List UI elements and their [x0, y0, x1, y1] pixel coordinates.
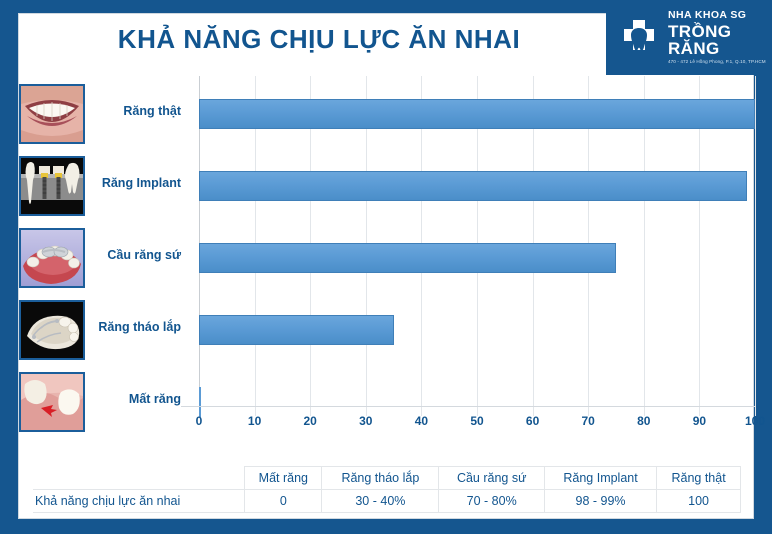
infographic-frame: KHẢ NĂNG CHỊU LỰC ĂN NHAI NHA KHOA SG TR… — [0, 0, 772, 534]
table-row: Khả năng chịu lực ăn nhai 0 30 - 40% 70 … — [33, 490, 741, 513]
category-label-4: Mất răng — [89, 392, 181, 406]
table-row-label: Khả năng chịu lực ăn nhai — [33, 490, 245, 513]
natural-teeth-smile-photo — [19, 84, 85, 144]
table-value-mat-rang: 0 — [245, 490, 322, 513]
page-title: KHẢ NĂNG CHỊU LỰC ĂN NHAI — [19, 24, 619, 55]
brand-text: NHA KHOA SG TRỒNG RĂNG 470 - 472 Lê Hồng… — [668, 10, 772, 64]
category-label-1: Răng Implant — [89, 176, 181, 190]
dental-bridge-model-photo — [19, 228, 85, 288]
table-header-row: Mất răng Răng tháo lắp Cầu răng sứ Răng … — [33, 467, 741, 490]
brand-line-2: TRỒNG RĂNG — [668, 23, 772, 57]
x-tick-10: 10 — [235, 414, 275, 428]
x-tick-90: 90 — [679, 414, 719, 428]
table-col-rang-implant: Răng Implant — [544, 467, 656, 490]
table-col-mat-rang: Mất răng — [245, 467, 322, 490]
bar-mat-rang — [199, 387, 201, 417]
gridline-100 — [755, 76, 756, 416]
x-tick-50: 50 — [457, 414, 497, 428]
x-tick-0: 0 — [179, 414, 219, 428]
table-col-rang-thao-lap: Răng tháo lắp — [322, 467, 439, 490]
table-value-rang-thao-lap: 30 - 40% — [322, 490, 439, 513]
bar-rang-implant — [199, 171, 747, 201]
table-value-cau-rang-su: 70 - 80% — [439, 490, 544, 513]
data-table: Mất răng Răng tháo lắp Cầu răng sứ Răng … — [33, 466, 741, 513]
table-col-rang-that: Răng thật — [657, 467, 741, 490]
plot-area: 0 10 20 30 40 50 60 70 80 90 100 — [181, 76, 755, 444]
header: KHẢ NĂNG CHỊU LỰC ĂN NHAI NHA KHOA SG TR… — [19, 14, 755, 76]
x-tick-20: 20 — [290, 414, 330, 428]
bar-chart: Răng thật Răng Implant Cầu răng sứ Răng … — [19, 76, 755, 466]
category-thumbnails: Răng thật Răng Implant Cầu răng sứ Răng … — [19, 76, 99, 436]
missing-tooth-gum-photo — [19, 372, 85, 432]
x-tick-30: 30 — [346, 414, 386, 428]
category-label-3: Răng tháo lắp — [89, 320, 181, 334]
x-tick-100: 100 — [735, 414, 772, 428]
brand-line-1: NHA KHOA SG — [668, 10, 772, 21]
table-value-rang-implant: 98 - 99% — [544, 490, 656, 513]
table-corner-cell — [33, 467, 245, 490]
x-tick-80: 80 — [624, 414, 664, 428]
category-label-0: Răng thật — [89, 104, 181, 118]
x-tick-60: 60 — [513, 414, 553, 428]
bar-cau-rang-su — [199, 243, 616, 273]
x-tick-70: 70 — [568, 414, 608, 428]
table-value-rang-that: 100 — [657, 490, 741, 513]
dental-implant-xray-photo — [19, 156, 85, 216]
brand-address: 470 - 472 Lê Hồng Phong, P.1, Q.10, TP.H… — [668, 60, 772, 65]
table-col-cau-rang-su: Cầu răng sứ — [439, 467, 544, 490]
brand-logo: NHA KHOA SG TRỒNG RĂNG 470 - 472 Lê Hồng… — [606, 0, 772, 75]
dental-cross-tooth-icon — [618, 17, 660, 59]
bar-rang-that — [199, 99, 755, 129]
bar-rang-thao-lap — [199, 315, 394, 345]
x-axis-line — [181, 406, 755, 407]
removable-denture-photo — [19, 300, 85, 360]
x-tick-40: 40 — [401, 414, 441, 428]
category-label-2: Cầu răng sứ — [89, 248, 181, 262]
content-panel: KHẢ NĂNG CHỊU LỰC ĂN NHAI NHA KHOA SG TR… — [18, 13, 754, 519]
